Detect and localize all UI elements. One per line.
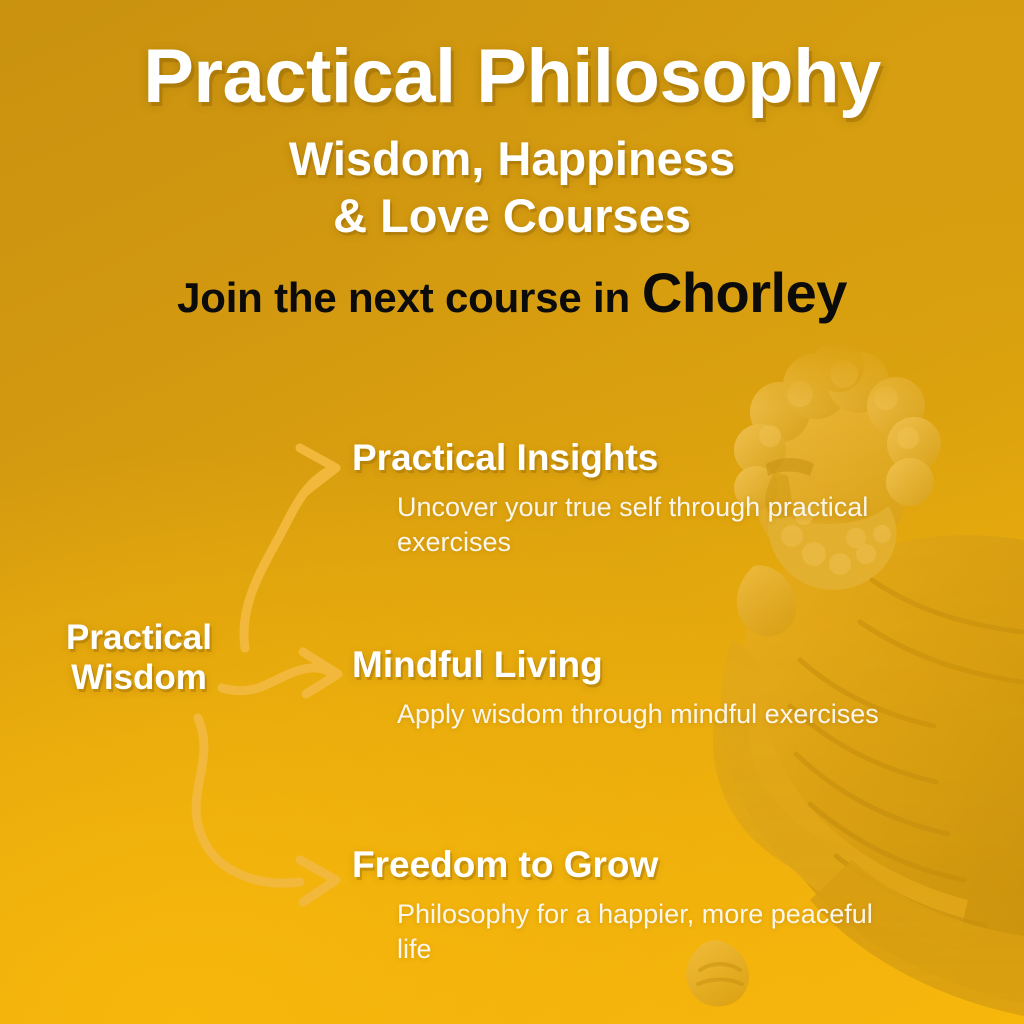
arrow-path-1 xyxy=(244,470,330,648)
join-city-name: Chorley xyxy=(642,261,847,324)
subtitle-line-1: Wisdom, Happiness xyxy=(0,130,1024,187)
root-label-line-2: Wisdom xyxy=(30,658,248,698)
arrow-head-1 xyxy=(300,448,336,492)
diagram-branch-freedom-to-grow: Freedom to Grow Philosophy for a happier… xyxy=(352,845,882,968)
arrow-path-3 xyxy=(196,718,300,883)
join-callout: Join the next course inChorley xyxy=(0,264,1024,323)
page-title: Practical Philosophy xyxy=(0,38,1024,116)
diagram-branch-practical-insights: Practical Insights Uncover your true sel… xyxy=(352,438,882,561)
branch-heading: Practical Insights xyxy=(352,438,882,479)
poster-canvas: Practical Philosophy Wisdom, Happiness &… xyxy=(0,0,1024,1024)
arrow-head-2 xyxy=(303,652,338,694)
header-block: Practical Philosophy Wisdom, Happiness &… xyxy=(0,38,1024,323)
branch-description: Uncover your true self through practical… xyxy=(397,490,882,561)
branch-heading: Freedom to Grow xyxy=(352,845,882,886)
branch-description: Apply wisdom through mindful exercises xyxy=(397,697,882,733)
diagram-branch-mindful-living: Mindful Living Apply wisdom through mind… xyxy=(352,645,882,732)
branch-heading: Mindful Living xyxy=(352,645,882,686)
arrow-head-3 xyxy=(300,860,336,902)
branch-description: Philosophy for a happier, more peaceful … xyxy=(397,897,882,968)
root-label-line-1: Practical xyxy=(30,618,248,658)
subtitle-line-2: & Love Courses xyxy=(0,187,1024,244)
page-subtitle: Wisdom, Happiness & Love Courses xyxy=(0,130,1024,245)
diagram-root-label: Practical Wisdom xyxy=(30,618,248,699)
join-prefix-text: Join the next course in xyxy=(177,274,630,321)
